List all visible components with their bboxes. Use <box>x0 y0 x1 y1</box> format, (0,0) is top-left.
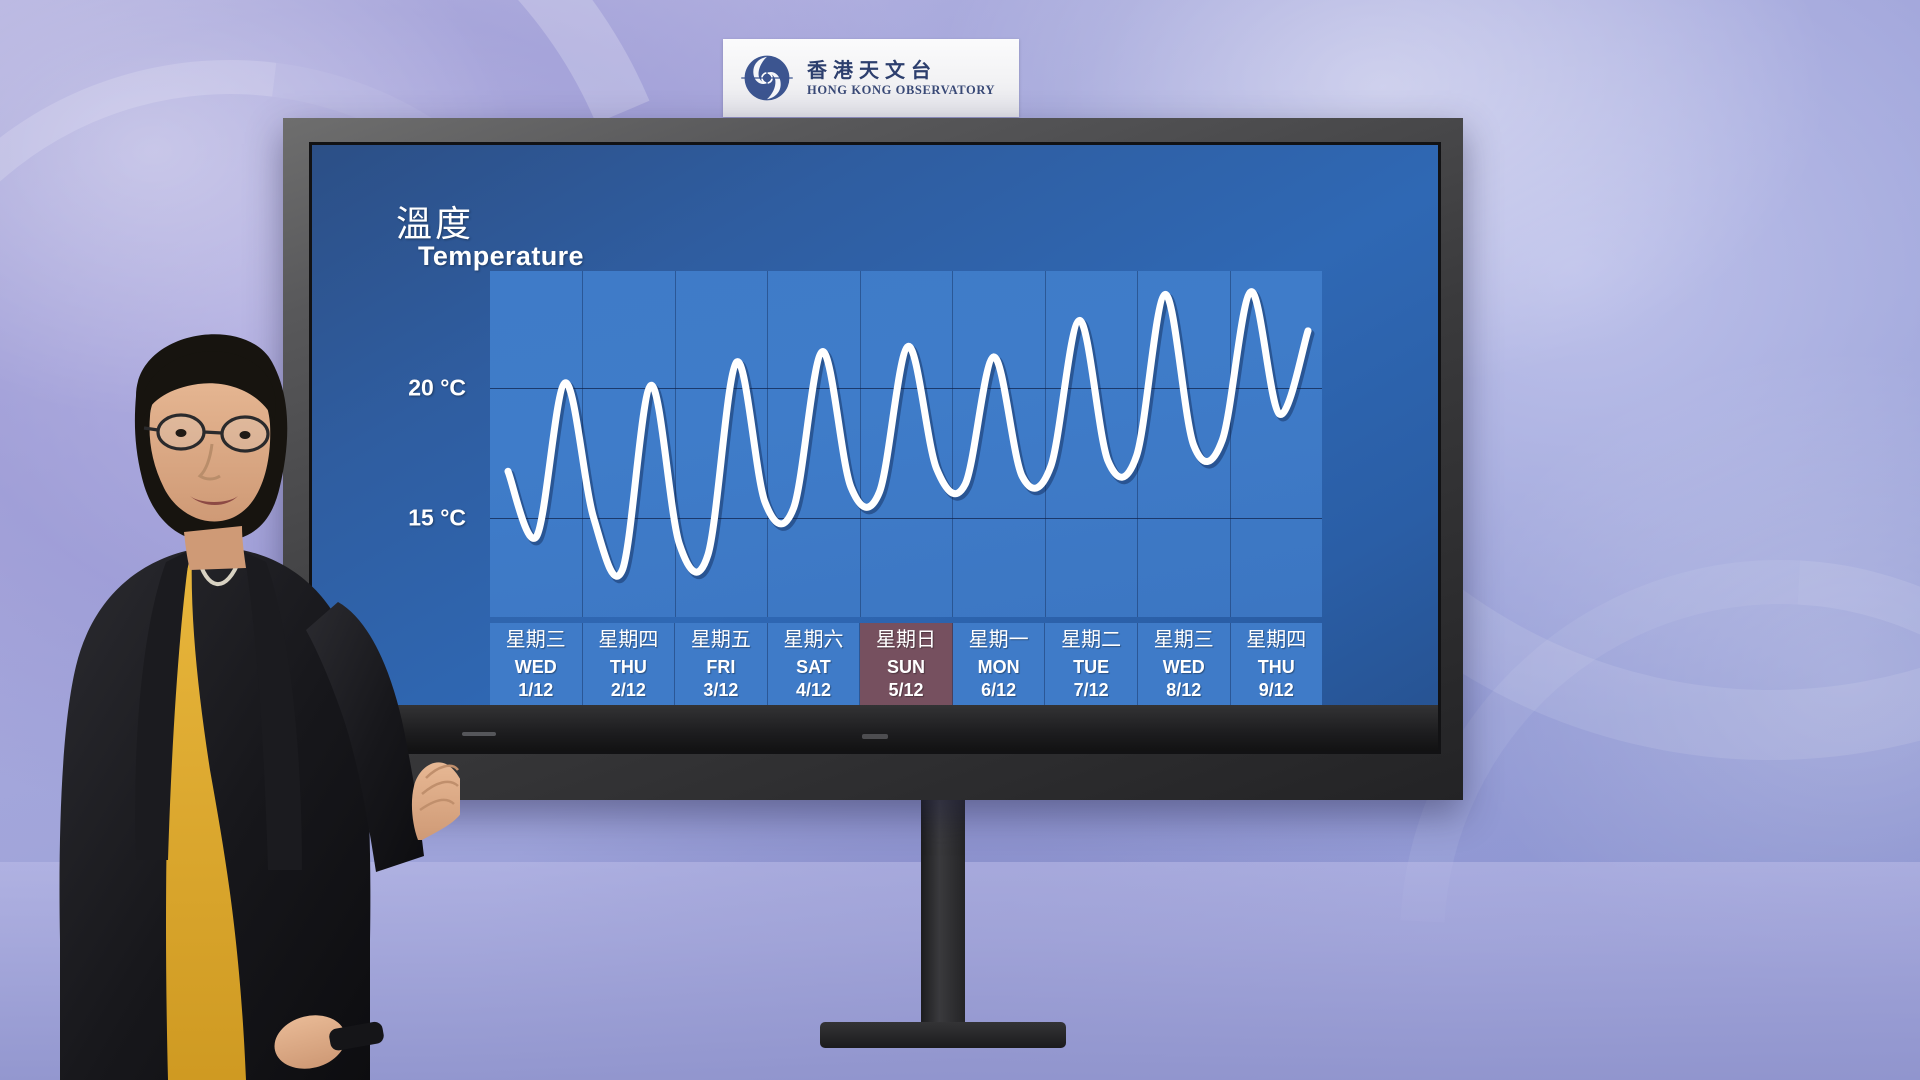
day-date: 1/12 <box>518 680 553 701</box>
day-label-zh: 星期四 <box>1246 627 1306 652</box>
hko-swirl-logo-icon <box>739 50 795 106</box>
monitor-stand-neck <box>921 800 965 1030</box>
day-label-zh: 星期三 <box>1154 627 1214 652</box>
monitor-stand-base <box>820 1022 1066 1048</box>
day-label-zh: 星期六 <box>783 627 843 652</box>
day-label-zh: 星期四 <box>598 627 658 652</box>
day-label-zh: 星期一 <box>969 627 1029 652</box>
day-label-en: FRI <box>706 657 735 678</box>
day-label-zh: 星期日 <box>876 627 936 652</box>
day-date: 9/12 <box>1259 680 1294 701</box>
day-label-en: TUE <box>1073 657 1109 678</box>
day-label-en: MON <box>978 657 1020 678</box>
monitor-chin <box>312 705 1438 751</box>
presenter-figure <box>40 300 460 1080</box>
hko-name-zh: 香港天文台 <box>807 60 995 80</box>
day-label-zh: 星期五 <box>691 627 751 652</box>
day-date: 7/12 <box>1074 680 1109 701</box>
day-date: 2/12 <box>611 680 646 701</box>
temperature-curve-line <box>508 292 1308 577</box>
monitor-screen: 溫度 Temperature 13°C 星期三WED1/12星期四THU2/12… <box>309 142 1441 754</box>
day-date: 4/12 <box>796 680 831 701</box>
presenter-head <box>135 334 287 570</box>
day-label-en: THU <box>610 657 647 678</box>
studio-stage: 香港天文台 HONG KONG OBSERVATORY 溫度 Temperatu… <box>0 0 1920 1080</box>
chart-title-en: Temperature <box>418 241 584 272</box>
chart-title-zh: 溫度 <box>396 195 474 247</box>
monitor-power-button[interactable] <box>462 732 496 736</box>
hko-name-en: HONG KONG OBSERVATORY <box>807 84 995 97</box>
temperature-curve <box>490 271 1322 617</box>
day-label-en: WED <box>515 657 557 678</box>
day-date: 3/12 <box>703 680 738 701</box>
day-label-en: WED <box>1163 657 1205 678</box>
day-label-zh: 星期三 <box>506 627 566 652</box>
day-date: 5/12 <box>889 680 924 701</box>
monitor-brand-mark <box>862 734 888 739</box>
day-label-en: SAT <box>796 657 831 678</box>
day-label-en: THU <box>1258 657 1295 678</box>
display-monitor: 溫度 Temperature 13°C 星期三WED1/12星期四THU2/12… <box>283 118 1463 800</box>
day-date: 6/12 <box>981 680 1016 701</box>
hko-logo-plate: 香港天文台 HONG KONG OBSERVATORY <box>723 39 1019 117</box>
day-date: 8/12 <box>1166 680 1201 701</box>
day-label-en: SUN <box>887 657 925 678</box>
day-label-zh: 星期二 <box>1061 627 1121 652</box>
